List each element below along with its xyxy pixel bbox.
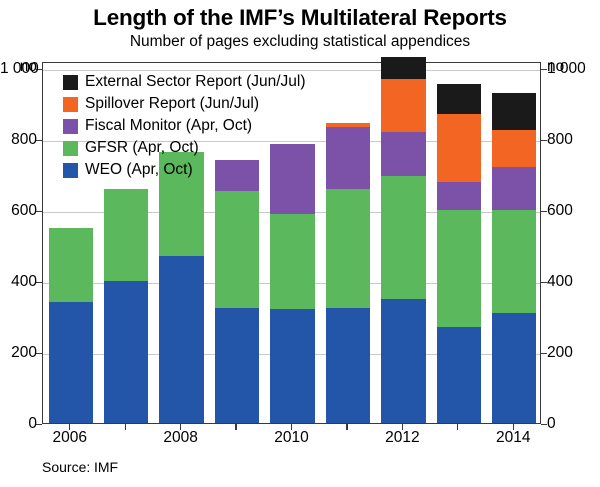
bar-segment-2013-weo-apr-oct[interactable] bbox=[437, 327, 481, 423]
source-value: IMF bbox=[94, 459, 118, 475]
source-label: Source: bbox=[42, 459, 94, 475]
bar-segment-2014-fiscal-monitor-apr-oct[interactable] bbox=[492, 167, 536, 210]
source-line: Source:IMF bbox=[42, 459, 118, 475]
plot-area: External Sector Report (Jun/Jul)Spillove… bbox=[42, 62, 541, 424]
legend-swatch-fiscal-monitor bbox=[63, 119, 78, 134]
x-tick-label-2014: 2014 bbox=[473, 429, 553, 447]
x-tick-mark-2009 bbox=[235, 424, 236, 430]
legend-label: External Sector Report (Jun/Jul) bbox=[85, 74, 306, 90]
x-tick-mark-2013 bbox=[457, 424, 458, 430]
chart-title: Length of the IMF’s Multilateral Reports bbox=[0, 5, 600, 31]
bar-segment-2008-weo-apr-oct[interactable] bbox=[159, 256, 203, 423]
y-tick-label-left-800: 800 bbox=[0, 132, 37, 148]
bar-segment-2013-external-sector-report-jun-jul[interactable] bbox=[437, 84, 481, 114]
legend-label: WEO (Apr, Oct) bbox=[85, 162, 193, 178]
y-tick-label-left-200: 200 bbox=[0, 345, 37, 361]
y-tick-label-left-1000: 1 000 bbox=[0, 61, 37, 77]
y-tick-label-right-400: 400 bbox=[547, 274, 600, 290]
y-tick-label-right-1000: 1 000 bbox=[547, 61, 600, 77]
y-tick-label-right-0: 0 bbox=[547, 416, 600, 432]
bar-2013[interactable] bbox=[437, 61, 481, 423]
x-tick-label-2006: 2006 bbox=[30, 429, 110, 447]
legend-item-gfsr-apr-oct[interactable]: GFSR (Apr, Oct) bbox=[63, 137, 306, 159]
chart-figure: Length of the IMF’s Multilateral Reports… bbox=[0, 0, 600, 487]
legend-label: GFSR (Apr, Oct) bbox=[85, 140, 199, 156]
legend-swatch-gfsr bbox=[63, 141, 78, 156]
bar-segment-2013-spillover-report-jun-jul[interactable] bbox=[437, 114, 481, 181]
bar-segment-2014-gfsr-apr-oct[interactable] bbox=[492, 210, 536, 313]
bar-segment-2014-spillover-report-jun-jul[interactable] bbox=[492, 130, 536, 167]
bar-segment-2009-gfsr-apr-oct[interactable] bbox=[215, 191, 259, 308]
legend-swatch-weo bbox=[63, 163, 78, 178]
y-tick-label-right-800: 800 bbox=[547, 132, 600, 148]
x-tick-mark-2011 bbox=[346, 424, 347, 430]
legend-item-fiscal-monitor-apr-oct[interactable]: Fiscal Monitor (Apr, Oct) bbox=[63, 115, 306, 137]
bar-segment-2014-weo-apr-oct[interactable] bbox=[492, 313, 536, 423]
x-tick-label-2010: 2010 bbox=[252, 429, 332, 447]
y-tick-label-left-400: 400 bbox=[0, 274, 37, 290]
legend-swatch-external-sector-report bbox=[63, 75, 78, 90]
bar-segment-2011-gfsr-apr-oct[interactable] bbox=[326, 189, 370, 308]
bar-segment-2010-weo-apr-oct[interactable] bbox=[270, 309, 314, 423]
bar-segment-2011-weo-apr-oct[interactable] bbox=[326, 308, 370, 423]
bar-segment-2011-fiscal-monitor-apr-oct[interactable] bbox=[326, 127, 370, 189]
x-tick-label-2008: 2008 bbox=[141, 429, 221, 447]
x-tick-label-2012: 2012 bbox=[362, 429, 442, 447]
legend-label: Spillover Report (Jun/Jul) bbox=[85, 96, 259, 112]
chart-subtitle: Number of pages excluding statistical ap… bbox=[0, 33, 600, 51]
bar-segment-2013-gfsr-apr-oct[interactable] bbox=[437, 210, 481, 327]
bar-segment-2006-weo-apr-oct[interactable] bbox=[49, 302, 93, 423]
bar-2011[interactable] bbox=[326, 61, 370, 423]
y-tick-label-left-600: 600 bbox=[0, 203, 37, 219]
legend-item-weo-apr-oct[interactable]: WEO (Apr, Oct) bbox=[63, 159, 306, 181]
legend-label: Fiscal Monitor (Apr, Oct) bbox=[85, 118, 252, 134]
bar-segment-2006-gfsr-apr-oct[interactable] bbox=[49, 228, 93, 303]
bar-segment-2012-spillover-report-jun-jul[interactable] bbox=[381, 79, 425, 132]
bar-segment-2012-gfsr-apr-oct[interactable] bbox=[381, 176, 425, 298]
y-tick-label-right-200: 200 bbox=[547, 345, 600, 361]
bar-segment-2012-weo-apr-oct[interactable] bbox=[381, 299, 425, 423]
chart-legend: External Sector Report (Jun/Jul)Spillove… bbox=[63, 71, 306, 181]
bar-2014[interactable] bbox=[492, 61, 536, 423]
bar-segment-2007-weo-apr-oct[interactable] bbox=[104, 281, 148, 423]
x-tick-mark-2007 bbox=[125, 424, 126, 430]
y-tick-label-right-600: 600 bbox=[547, 203, 600, 219]
legend-item-spillover-report-jun-jul[interactable]: Spillover Report (Jun/Jul) bbox=[63, 93, 306, 115]
legend-swatch-spillover-report bbox=[63, 97, 78, 112]
bar-segment-2014-external-sector-report-jun-jul[interactable] bbox=[492, 93, 536, 130]
bar-segment-2012-fiscal-monitor-apr-oct[interactable] bbox=[381, 132, 425, 176]
bar-segment-2010-gfsr-apr-oct[interactable] bbox=[270, 214, 314, 310]
bar-segment-2009-weo-apr-oct[interactable] bbox=[215, 308, 259, 423]
legend-item-external-sector-report-jun-jul[interactable]: External Sector Report (Jun/Jul) bbox=[63, 71, 306, 93]
bar-segment-2013-fiscal-monitor-apr-oct[interactable] bbox=[437, 182, 481, 210]
bar-segment-2011-spillover-report-jun-jul[interactable] bbox=[326, 123, 370, 127]
bar-segment-2012-external-sector-report-jun-jul[interactable] bbox=[381, 57, 425, 78]
bar-2012[interactable] bbox=[381, 61, 425, 423]
bar-segment-2007-gfsr-apr-oct[interactable] bbox=[104, 189, 148, 281]
